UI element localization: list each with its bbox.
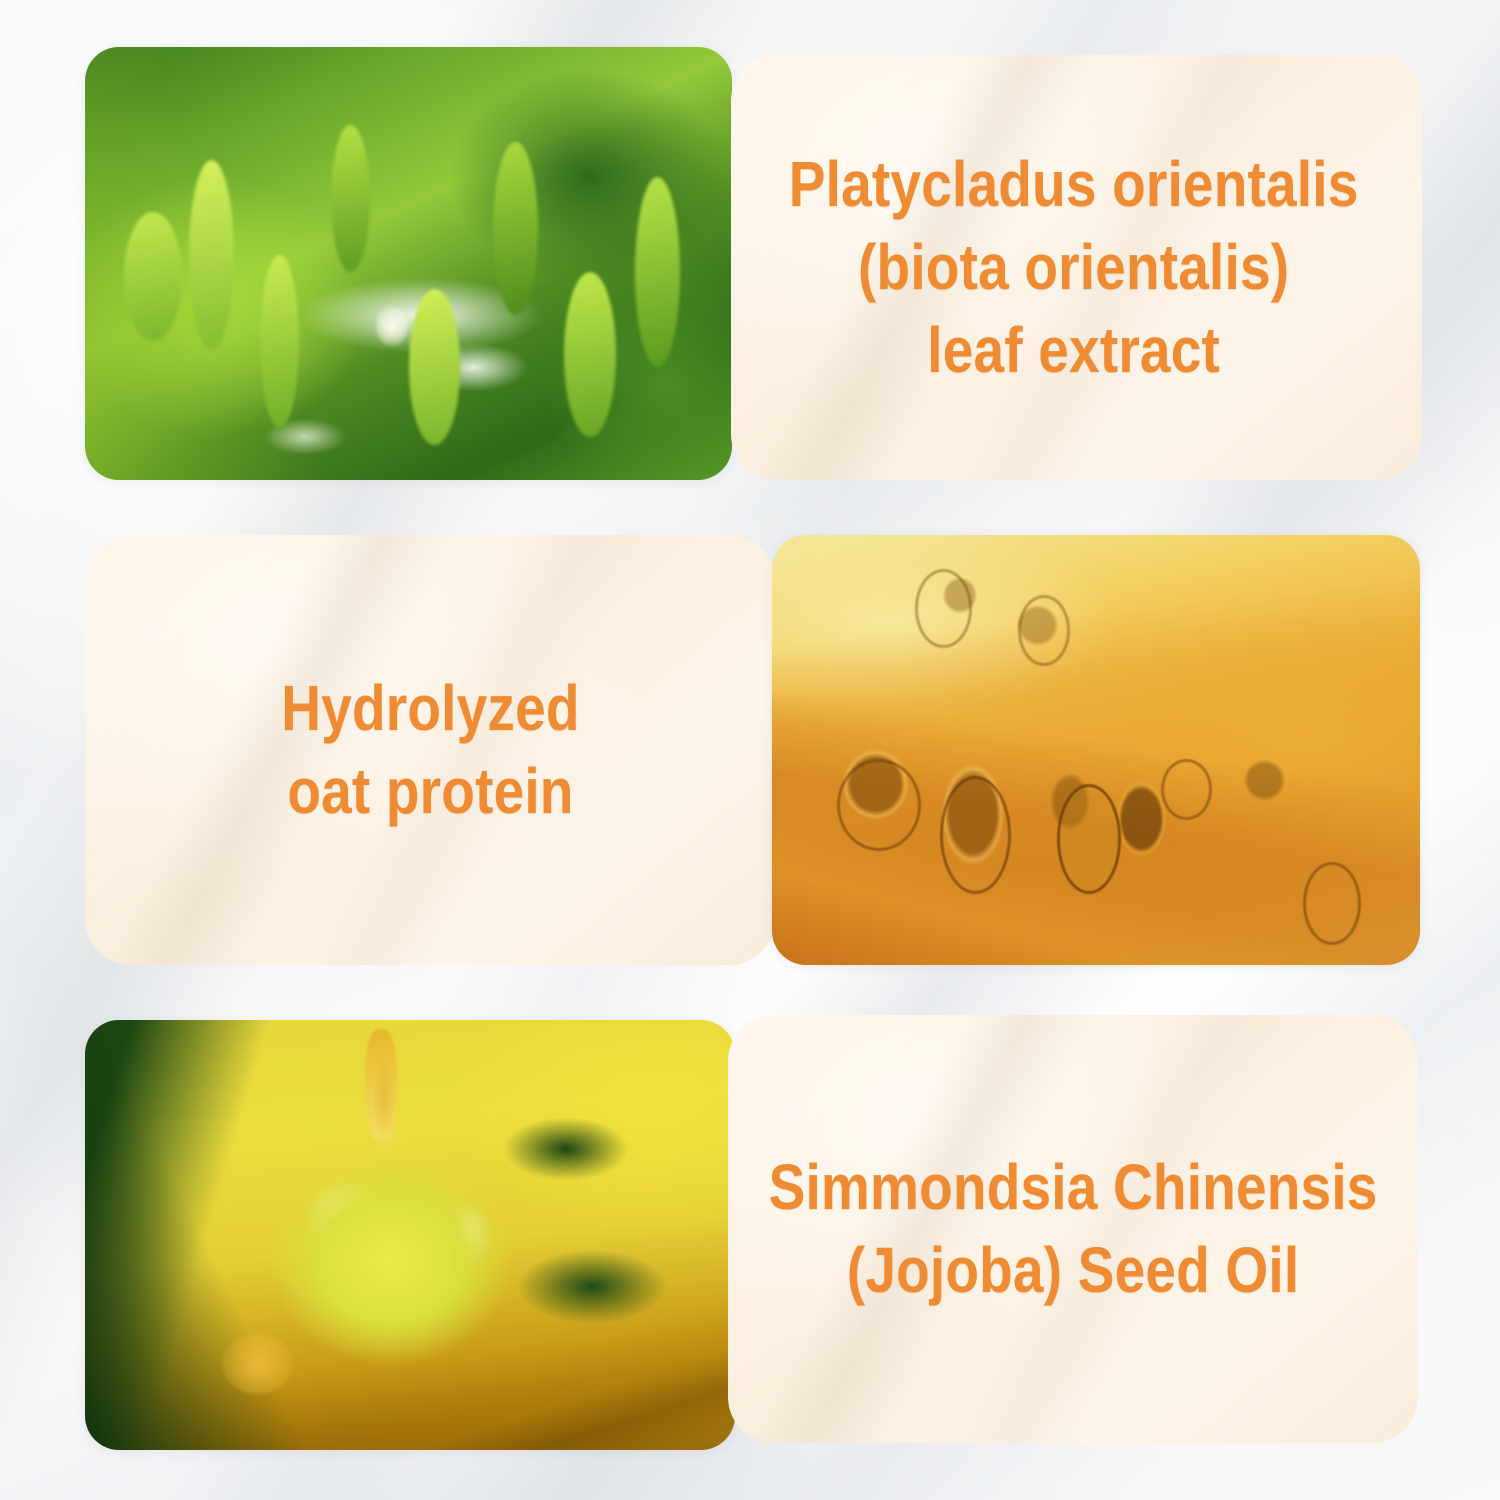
oat-protein-line-1: Hydrolyzed [281,667,579,750]
platycladus-line-2: (biota orientalis) [789,226,1359,309]
jojoba-text-panel: Simmondsia Chinensis (Jojoba) Seed Oil [728,1015,1418,1443]
oat-protein-text-panel: Hydrolyzed oat protein [85,535,775,965]
oat-wheat-in-oil-photo [772,535,1420,965]
jojoba-line-2: (Jojoba) Seed Oil [768,1229,1377,1312]
ingredient-infographic: Platycladus orientalis (biota orientalis… [0,0,1500,1500]
platycladus-text-panel: Platycladus orientalis (biota orientalis… [731,55,1422,480]
platycladus-foliage-photo [85,47,732,480]
jojoba-label: Simmondsia Chinensis (Jojoba) Seed Oil [768,1146,1377,1312]
oat-protein-line-2: oat protein [281,750,579,833]
platycladus-label: Platycladus orientalis (biota orientalis… [789,143,1364,393]
jojoba-fruit-oil-photo [85,1020,735,1450]
platycladus-line-1: Platycladus orientalis [789,143,1359,226]
oat-protein-label: Hydrolyzed oat protein [281,667,579,833]
jojoba-line-1: Simmondsia Chinensis [768,1146,1377,1229]
platycladus-line-3: leaf extract [789,309,1359,392]
